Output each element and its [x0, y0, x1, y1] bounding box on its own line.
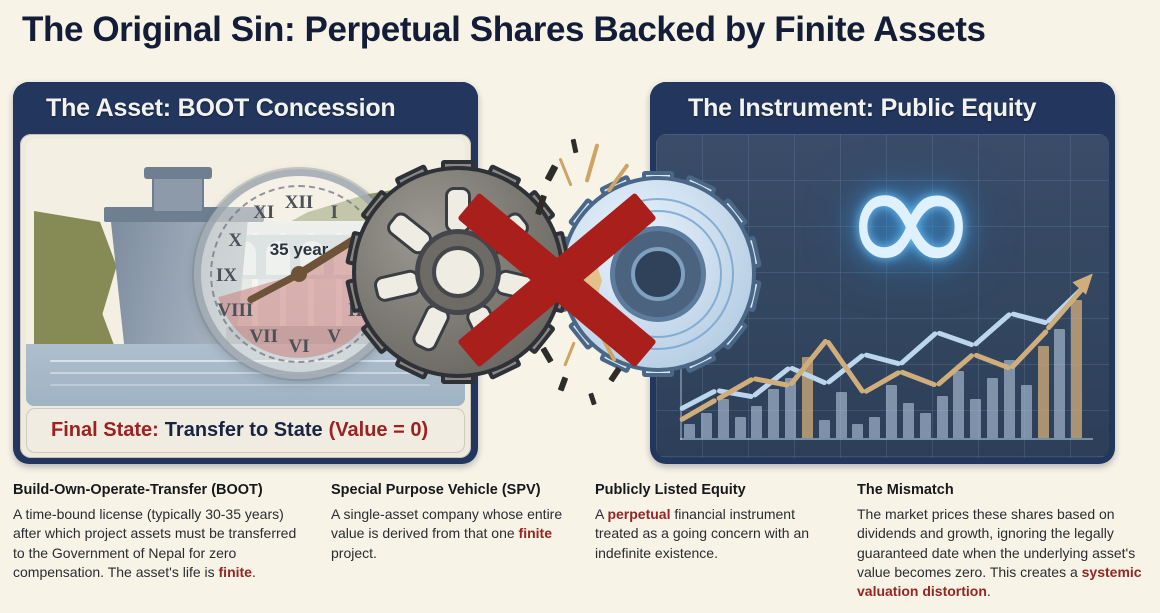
- chart-bar: [718, 399, 729, 438]
- clock-numeral: XII: [285, 192, 314, 214]
- column-body: A perpetual financial instrument treated…: [595, 505, 833, 563]
- chart-bar: [886, 385, 897, 438]
- column-title: Publicly Listed Equity: [595, 482, 833, 498]
- page-title: The Original Sin: Perpetual Shares Backe…: [22, 8, 1142, 52]
- chart-bar: [953, 371, 964, 438]
- column-highlight: finite: [519, 525, 552, 541]
- column-title: The Mismatch: [857, 482, 1147, 498]
- column-boot: Build-Own-Operate-Transfer (BOOT) A time…: [13, 482, 331, 602]
- dam-intake-tower: [152, 175, 204, 213]
- column-body-after: .: [252, 564, 256, 580]
- asset-panel-title: The Asset: BOOT Concession: [13, 94, 396, 123]
- clock-center-pin: [291, 266, 307, 282]
- final-state-suffix: (Value = 0): [329, 419, 429, 442]
- clock-numeral: VIII: [217, 300, 253, 322]
- chart-bar: [1054, 329, 1065, 439]
- final-state-bar: Final State: Transfer to State (Value = …: [26, 408, 465, 453]
- explanation-columns: Build-Own-Operate-Transfer (BOOT) A time…: [13, 482, 1147, 602]
- chart-trend-segment: [1010, 311, 1048, 325]
- chart-bar: [836, 392, 847, 438]
- column-equity: Publicly Listed Equity A perpetual finan…: [595, 482, 857, 602]
- chart-bar: [852, 424, 863, 438]
- clock-numeral: XI: [253, 202, 274, 224]
- column-body-after: .: [987, 583, 991, 599]
- chart-bar: [819, 420, 830, 438]
- clock-numeral: VI: [288, 336, 309, 358]
- instrument-panel-title: The Instrument: Public Equity: [650, 94, 1036, 123]
- column-title: Special Purpose Vehicle (SPV): [331, 482, 571, 498]
- column-title: Build-Own-Operate-Transfer (BOOT): [13, 482, 307, 498]
- chart-trend-segment: [899, 369, 938, 388]
- chart-bar: [768, 389, 779, 438]
- chart-bar: [751, 406, 762, 438]
- clock-numeral: VII: [249, 326, 278, 348]
- column-highlight: finite: [219, 564, 252, 580]
- chart-trend-segment: [863, 352, 901, 366]
- chart-bar: [735, 417, 746, 438]
- chart-bar: [1038, 346, 1049, 438]
- final-state-prefix: Final State:: [51, 419, 159, 442]
- chart-bar: [1021, 385, 1032, 438]
- chart-bar: [701, 413, 712, 438]
- chart-x-axis: [680, 438, 1093, 440]
- clock-numeral: X: [228, 230, 242, 252]
- chart-bar: [970, 399, 981, 438]
- chart-trend-segment: [972, 311, 1012, 347]
- dam-tower-cap: [144, 167, 212, 179]
- column-body: A single-asset company whose entire valu…: [331, 505, 571, 563]
- chart-bar: [987, 378, 998, 438]
- column-body: A time-bound license (typically 30-35 ye…: [13, 505, 307, 582]
- chart-bar: [920, 413, 931, 438]
- asset-panel-header: The Asset: BOOT Concession: [13, 82, 478, 134]
- column-body-before: A: [595, 506, 607, 522]
- chart-bar: [684, 424, 695, 438]
- red-x-mark: [452, 190, 662, 370]
- clock-numeral: IX: [216, 265, 237, 287]
- column-spv: Special Purpose Vehicle (SPV) A single-a…: [331, 482, 595, 602]
- chart-trend-segment: [825, 339, 866, 395]
- chart-bar: [1004, 360, 1015, 438]
- column-body: The market prices these shares based on …: [857, 505, 1147, 602]
- chart-bar: [937, 396, 948, 438]
- chart-bar: [903, 403, 914, 438]
- clock-numeral: I: [331, 202, 338, 224]
- chart-bar: [1071, 300, 1082, 438]
- clock-numeral: V: [327, 326, 341, 348]
- chart-trend-segment: [899, 330, 939, 366]
- chart-trend-segment: [936, 330, 974, 348]
- final-state-middle: Transfer to State: [159, 419, 329, 442]
- chart-bar: [869, 417, 880, 438]
- column-highlight: perpetual: [607, 506, 670, 522]
- column-mismatch: The Mismatch The market prices these sha…: [857, 482, 1147, 602]
- column-body-after: project.: [331, 545, 377, 561]
- instrument-panel-header: The Instrument: Public Equity: [650, 82, 1115, 134]
- infinity-symbol: ∞: [782, 156, 1040, 281]
